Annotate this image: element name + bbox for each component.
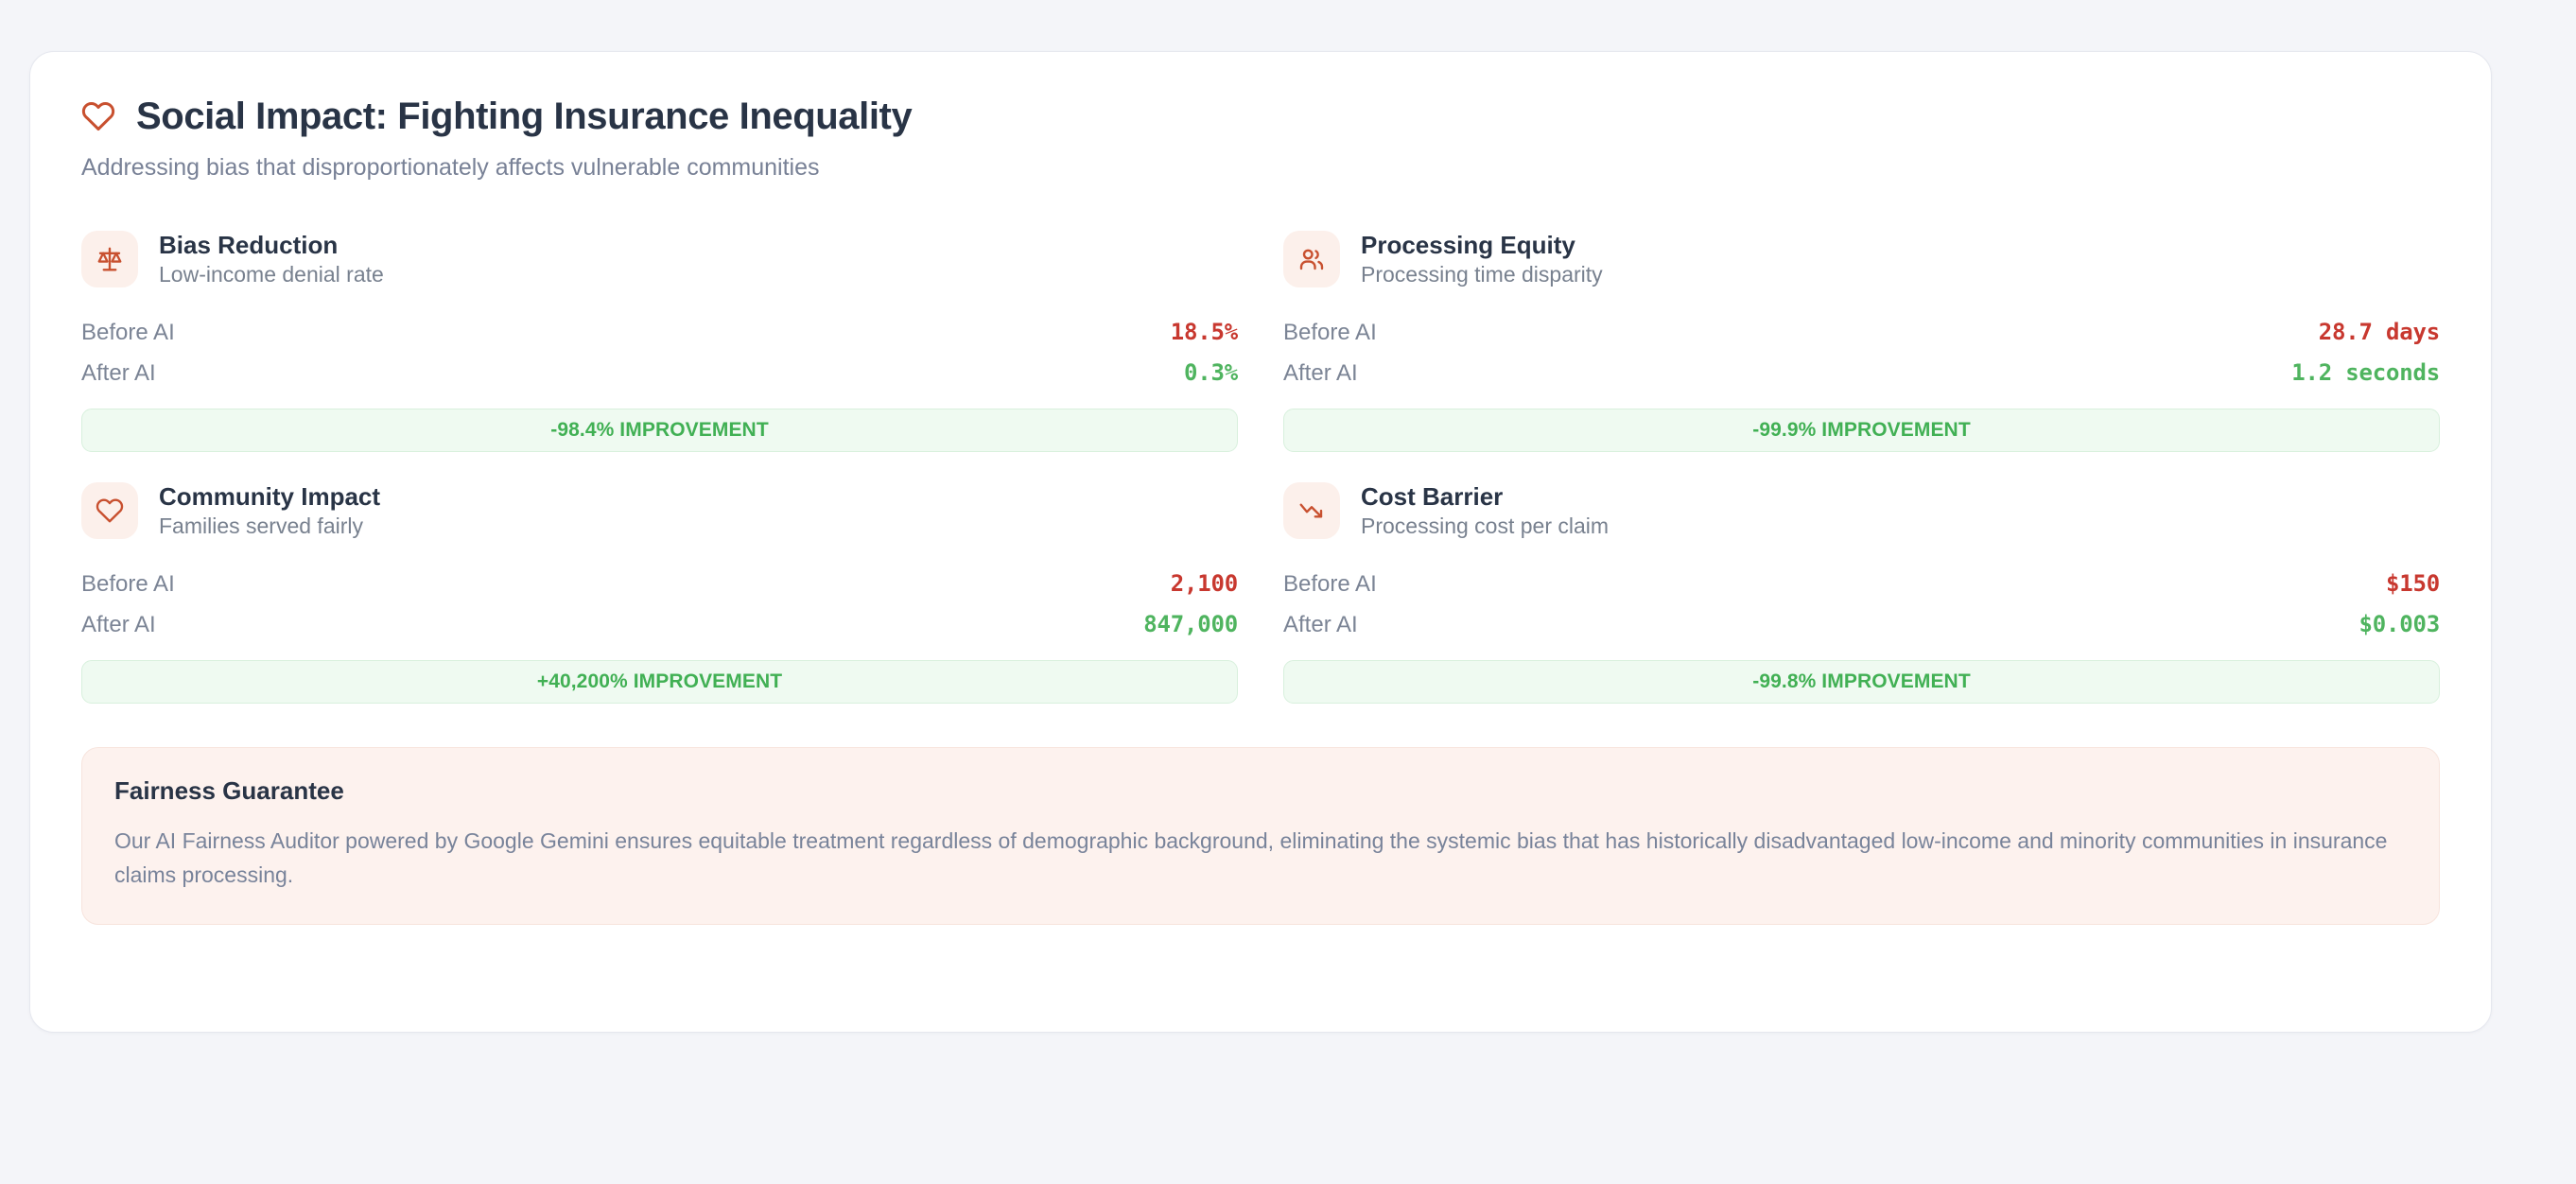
after-label: After AI [81,360,156,387]
improvement-badge: +40,200% IMPROVEMENT [81,660,1238,704]
before-label: Before AI [81,320,175,346]
after-label: After AI [1283,360,1358,387]
metric-icon-tile [81,231,138,287]
heart-icon [81,99,115,133]
metric-grid: Bias Reduction Low-income denial rate Be… [81,227,2440,704]
heart-icon [96,496,124,525]
metric-row-after: After AI $0.003 [1283,604,2440,645]
metric-row-after: After AI 1.2 seconds [1283,353,2440,393]
metric-row-before: Before AI 18.5% [81,312,1238,353]
before-value: 28.7 days [2319,319,2440,345]
metric-row-before: Before AI $150 [1283,564,2440,604]
metric-header: Bias Reduction Low-income denial rate [81,231,1238,287]
after-label: After AI [81,612,156,638]
scales-icon [96,245,124,273]
metric-row-after: After AI 0.3% [81,353,1238,393]
metric-title: Bias Reduction [159,232,384,259]
metric-card-cost-barrier: Cost Barrier Processing cost per claim B… [1283,479,2440,704]
trending-down-icon [1297,496,1326,525]
after-value: 0.3% [1184,359,1238,386]
improvement-badge: -99.9% IMPROVEMENT [1283,409,2440,452]
improvement-badge: -99.8% IMPROVEMENT [1283,660,2440,704]
metric-icon-tile [1283,482,1340,539]
fairness-guarantee-panel: Fairness Guarantee Our AI Fairness Audit… [81,747,2440,925]
metric-titles: Bias Reduction Low-income denial rate [159,232,384,287]
metric-description: Low-income denial rate [159,263,384,287]
metric-description: Processing cost per claim [1361,514,1609,538]
metric-rows: Before AI 18.5% After AI 0.3% [81,312,1238,393]
metric-description: Families served fairly [159,514,380,538]
page-title: Social Impact: Fighting Insurance Inequa… [136,96,912,137]
metric-title: Processing Equity [1361,232,1603,259]
after-label: After AI [1283,612,1358,638]
after-value: $0.003 [2359,611,2441,637]
users-icon [1297,245,1326,273]
after-value: 847,000 [1143,611,1238,637]
metric-row-after: After AI 847,000 [81,604,1238,645]
metric-header: Community Impact Families served fairly [81,482,1238,539]
improvement-badge: -98.4% IMPROVEMENT [81,409,1238,452]
metric-rows: Before AI 28.7 days After AI 1.2 seconds [1283,312,2440,393]
metric-title: Community Impact [159,483,380,511]
metric-row-before: Before AI 28.7 days [1283,312,2440,353]
metric-titles: Community Impact Families served fairly [159,483,380,539]
metric-card-bias-reduction: Bias Reduction Low-income denial rate Be… [81,227,1238,452]
metric-header: Processing Equity Processing time dispar… [1283,231,2440,287]
metric-title: Cost Barrier [1361,483,1609,511]
before-label: Before AI [1283,571,1377,598]
fairness-guarantee-title: Fairness Guarantee [114,776,2407,806]
metric-rows: Before AI $150 After AI $0.003 [1283,564,2440,645]
metric-description: Processing time disparity [1361,263,1603,287]
metric-icon-tile [81,482,138,539]
metric-titles: Cost Barrier Processing cost per claim [1361,483,1609,539]
before-value: 18.5% [1171,319,1238,345]
before-label: Before AI [81,571,175,598]
metric-titles: Processing Equity Processing time dispar… [1361,232,1603,287]
before-label: Before AI [1283,320,1377,346]
panel-header: Social Impact: Fighting Insurance Inequa… [81,96,2440,137]
page-subtitle: Addressing bias that disproportionately … [81,153,2440,182]
before-value: $150 [2386,570,2440,597]
metric-header: Cost Barrier Processing cost per claim [1283,482,2440,539]
social-impact-panel: Social Impact: Fighting Insurance Inequa… [29,51,2492,1033]
metric-icon-tile [1283,231,1340,287]
before-value: 2,100 [1171,570,1238,597]
metric-row-before: Before AI 2,100 [81,564,1238,604]
metric-card-processing-equity: Processing Equity Processing time dispar… [1283,227,2440,452]
metric-card-community-impact: Community Impact Families served fairly … [81,479,1238,704]
metric-rows: Before AI 2,100 After AI 847,000 [81,564,1238,645]
fairness-guarantee-text: Our AI Fairness Auditor powered by Googl… [114,825,2407,892]
after-value: 1.2 seconds [2291,359,2440,386]
